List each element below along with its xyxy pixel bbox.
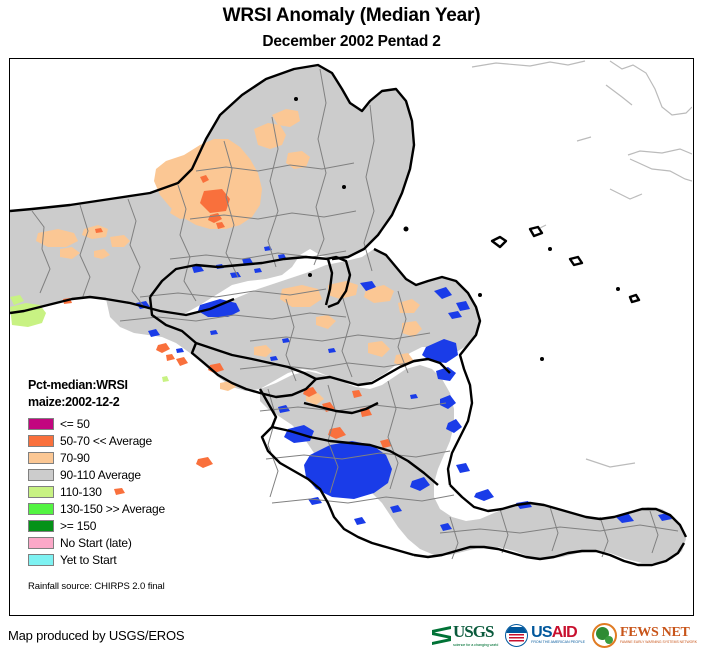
legend-label: 70-90 [60, 451, 90, 465]
usgs-wave-icon [432, 627, 451, 644]
usaid-logo-textblock: USAID FROM THE AMERICAN PEOPLE [531, 625, 585, 645]
legend-item[interactable]: <= 50 [19, 415, 224, 432]
legend-label: No Start (late) [60, 536, 132, 550]
legend-item[interactable]: 50-70 << Average [19, 432, 224, 449]
usaid-wordmark: USAID [531, 625, 585, 640]
legend-swatch-no-start [28, 537, 54, 549]
produced-by-text: Map produced by USGS/EROS [8, 628, 184, 643]
legend-label: <= 50 [60, 417, 90, 431]
globe-icon [592, 623, 617, 648]
legend-swatch-70-90 [28, 452, 54, 464]
legend-rows: <= 50 50-70 << Average 70-90 90-110 Aver… [19, 415, 224, 568]
legend-item[interactable]: 70-90 [19, 449, 224, 466]
page-subtitle: December 2002 Pentad 2 [0, 33, 703, 51]
legend-swatch-gte-150 [28, 520, 54, 532]
legend-label: 90-110 Average [60, 468, 141, 482]
fews-logo-textblock: FEWS NET FAMINE EARLY WARNING SYSTEMS NE… [620, 626, 697, 645]
usgs-wordmark: USGS [453, 622, 493, 641]
legend-label: >= 150 [60, 519, 96, 533]
legend-title-line2: maize:2002-12-2 [28, 394, 224, 411]
legend-swatch-50-70 [28, 435, 54, 447]
legend-label: 130-150 >> Average [60, 502, 165, 516]
page-title: WRSI Anomaly (Median Year) [0, 5, 703, 27]
legend-item[interactable]: Yet to Start [19, 551, 224, 568]
legend-swatch-lte-50 [28, 418, 54, 430]
legend-swatch-90-110 [28, 469, 54, 481]
legend-swatch-yet-to-start [28, 554, 54, 566]
fews-tagline: FAMINE EARLY WARNING SYSTEMS NETWORK [620, 640, 697, 645]
legend-item[interactable]: 130-150 >> Average [19, 500, 224, 517]
fews-net-logo[interactable]: FEWS NET FAMINE EARLY WARNING SYSTEMS NE… [592, 622, 697, 648]
legend-item[interactable]: >= 150 [19, 517, 224, 534]
title-block: WRSI Anomaly (Median Year) December 2002… [0, 0, 703, 51]
legend-title-line1: Pct-median:WRSI [28, 377, 224, 394]
legend-item[interactable]: No Start (late) [19, 534, 224, 551]
legend-label: 50-70 << Average [60, 434, 152, 448]
logo-bar: USGS science for a changing world USAID … [432, 622, 697, 648]
legend-item[interactable]: 110-130 [19, 483, 224, 500]
usaid-seal-icon [505, 624, 528, 647]
map-legend: Pct-median:WRSI maize:2002-12-2 <= 50 50… [19, 377, 224, 592]
footer: Map produced by USGS/EROS USGS science f… [0, 618, 703, 662]
map-frame[interactable]: Pct-median:WRSI maize:2002-12-2 <= 50 50… [9, 58, 694, 616]
usgs-logo[interactable]: USGS science for a changing world [432, 622, 498, 648]
usaid-wordmark-us: US [531, 624, 552, 641]
usaid-logo[interactable]: USAID FROM THE AMERICAN PEOPLE [505, 622, 585, 648]
fews-wordmark: FEWS NET [620, 626, 697, 640]
rainfall-source-note: Rainfall source: CHIRPS 2.0 final [28, 581, 224, 592]
legend-label: 110-130 [60, 485, 102, 499]
legend-item[interactable]: 90-110 Average [19, 466, 224, 483]
legend-label: Yet to Start [60, 553, 117, 567]
usgs-logo-textblock: USGS science for a changing world [453, 624, 498, 647]
legend-swatch-130-150 [28, 503, 54, 515]
usaid-tagline: FROM THE AMERICAN PEOPLE [531, 640, 585, 645]
usaid-wordmark-aid: AID [552, 624, 577, 641]
usgs-tagline: science for a changing world [453, 642, 498, 647]
legend-swatch-110-130 [28, 486, 54, 498]
